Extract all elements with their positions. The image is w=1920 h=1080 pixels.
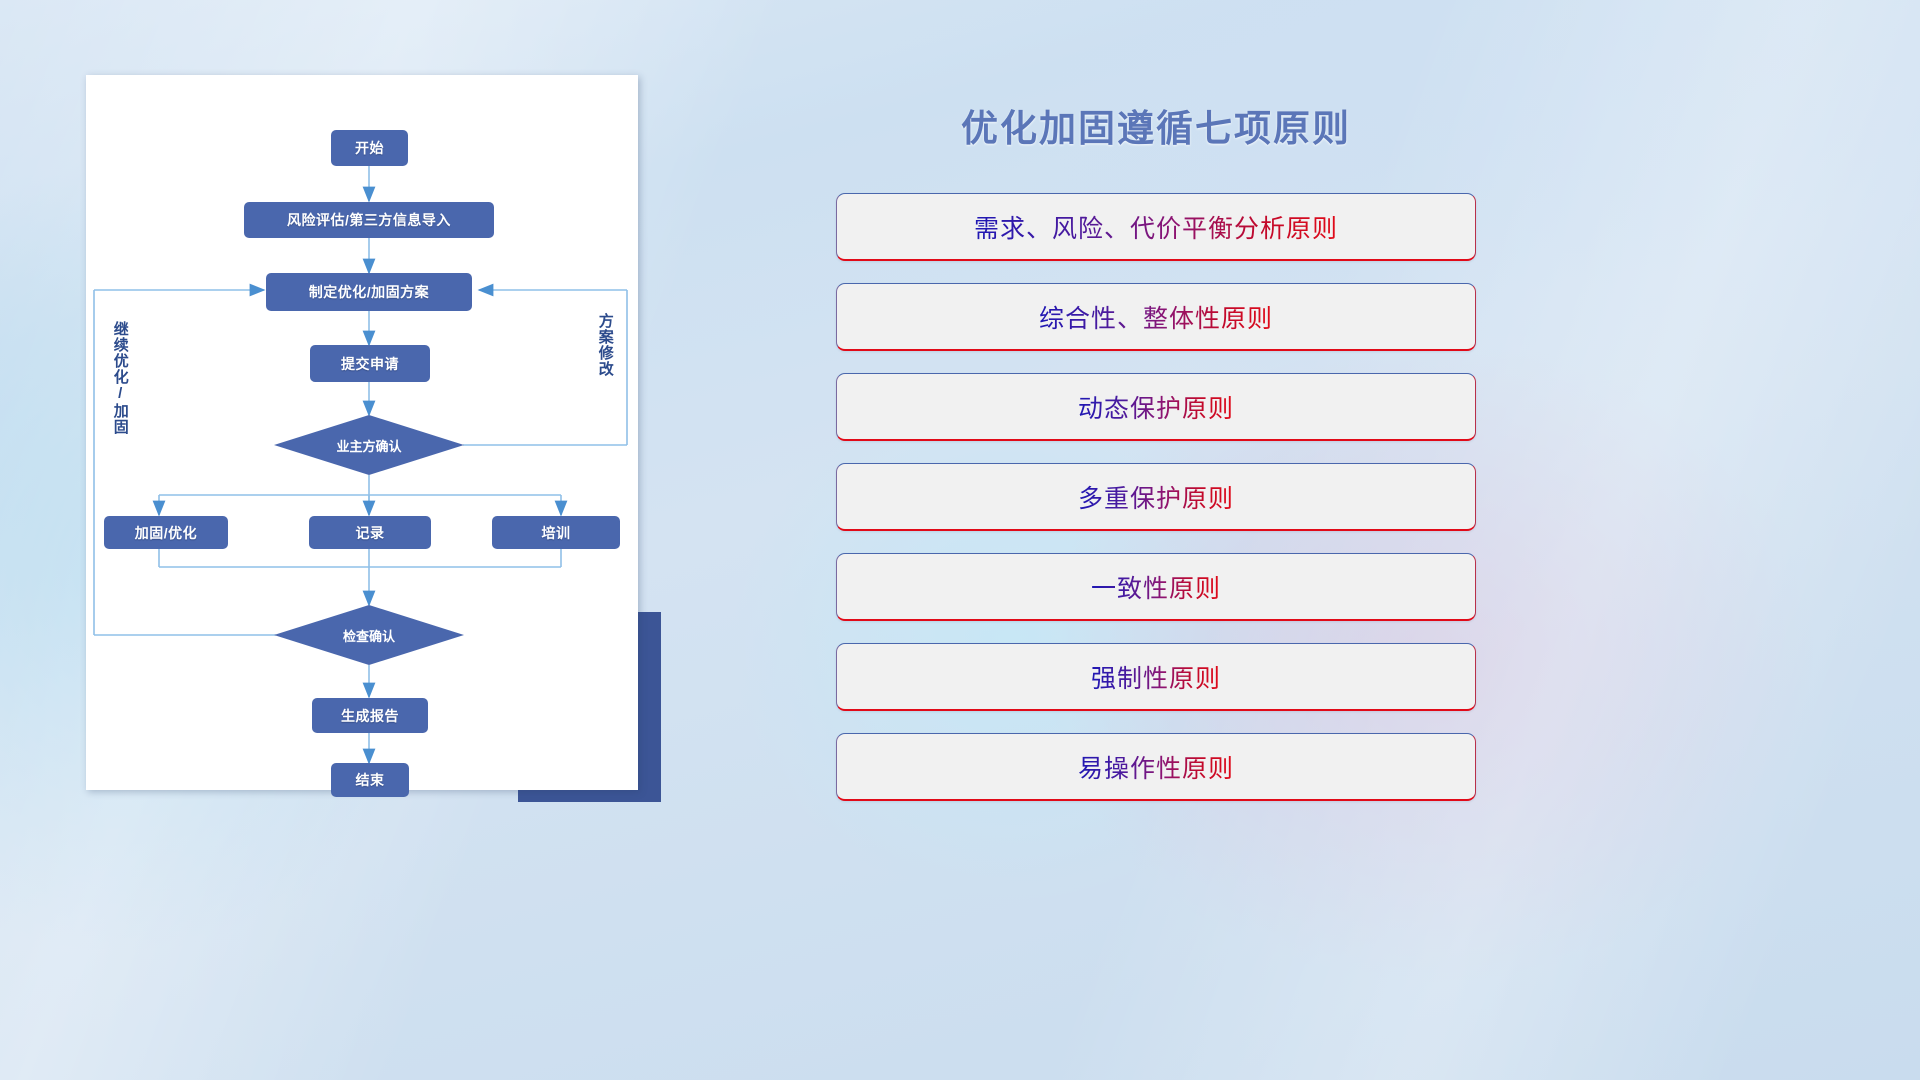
flowchart-card: 开始 风险评估/第三方信息导入 制定优化/加固方案 提交申请 业主方确认 加固/…: [86, 75, 638, 790]
flow-node-risk-assessment-label: 风险评估/第三方信息导入: [287, 210, 451, 230]
principle-card-label: 一致性原则: [1091, 569, 1221, 605]
principle-card[interactable]: 多重保护原则: [836, 463, 1476, 531]
flow-node-owner-confirm-label: 业主方确认: [336, 436, 401, 455]
flow-node-submit[interactable]: 提交申请: [310, 345, 430, 382]
principle-card-label: 需求、风险、代价平衡分析原则: [974, 209, 1338, 245]
flow-node-record-label: 记录: [356, 523, 385, 543]
principles-panel-title: 优化加固遵循七项原则: [836, 98, 1476, 152]
principle-card-label: 强制性原则: [1091, 659, 1221, 695]
principle-card-label: 动态保护原则: [1078, 389, 1234, 425]
principle-card-label: 易操作性原则: [1078, 749, 1234, 785]
flow-node-submit-label: 提交申请: [341, 354, 399, 374]
principle-card[interactable]: 动态保护原则: [836, 373, 1476, 441]
flow-edge-label-plan-revision: 方案修改: [597, 313, 613, 377]
flow-node-end[interactable]: 结束: [331, 763, 409, 797]
principle-card[interactable]: 一致性原则: [836, 553, 1476, 621]
principle-card[interactable]: 综合性、整体性原则: [836, 283, 1476, 351]
flow-node-reinforce[interactable]: 加固/优化: [104, 516, 228, 549]
flow-node-training[interactable]: 培训: [492, 516, 620, 549]
flow-node-check-confirm-label: 检查确认: [343, 626, 395, 645]
principle-card[interactable]: 强制性原则: [836, 643, 1476, 711]
flow-node-reinforce-label: 加固/优化: [135, 523, 197, 543]
flow-node-start-label: 开始: [355, 138, 384, 158]
flow-node-start[interactable]: 开始: [331, 130, 408, 166]
principles-panel: 优化加固遵循七项原则 需求、风险、代价平衡分析原则 综合性、整体性原则 动态保护…: [836, 80, 1476, 820]
flow-node-record[interactable]: 记录: [309, 516, 431, 549]
flow-edge-label-continue-optimize: 继续优化/加固: [112, 321, 128, 435]
flow-node-generate-report[interactable]: 生成报告: [312, 698, 428, 733]
flow-node-end-label: 结束: [356, 770, 385, 790]
principle-card-label: 综合性、整体性原则: [1039, 299, 1273, 335]
flow-node-generate-report-label: 生成报告: [341, 706, 399, 726]
principle-card[interactable]: 需求、风险、代价平衡分析原则: [836, 193, 1476, 261]
principle-card-label: 多重保护原则: [1078, 479, 1234, 515]
principles-list: 需求、风险、代价平衡分析原则 综合性、整体性原则 动态保护原则 多重保护原则 一…: [836, 193, 1476, 823]
flow-node-plan-label: 制定优化/加固方案: [309, 282, 429, 302]
flow-node-plan[interactable]: 制定优化/加固方案: [266, 273, 472, 311]
flow-node-training-label: 培训: [542, 523, 571, 543]
principle-card[interactable]: 易操作性原则: [836, 733, 1476, 801]
flow-node-risk-assessment[interactable]: 风险评估/第三方信息导入: [244, 202, 494, 238]
